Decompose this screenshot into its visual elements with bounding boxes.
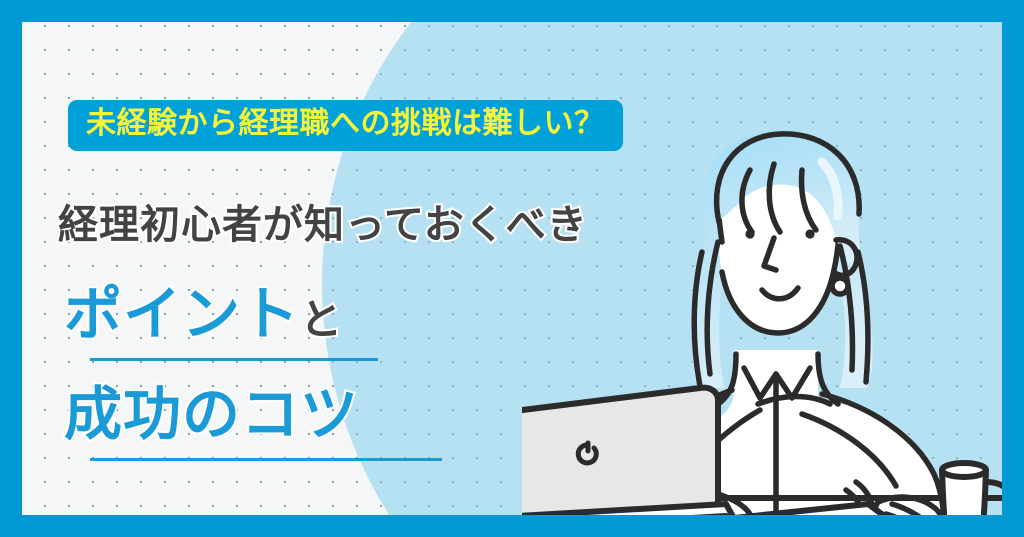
headline-accent-success: 成功のコツ [64,382,359,447]
banner-root: 未経験から経理職への挑戦は難しい？ 経理初心者が知っておくべき ポイントと 成功… [0,0,1024,537]
headline-line-3: 成功のコツ [64,367,359,451]
headline-accent-point: ポイント [64,282,300,347]
accent-underline-2 [90,458,442,461]
headline-line-1: 経理初心者が知っておくべき [58,192,588,250]
headline-plain-to: と [300,296,343,343]
headline-line-2: ポイントと [64,267,343,351]
inner-panel: 未経験から経理職への挑戦は難しい？ 経理初心者が知っておくべき ポイントと 成功… [22,22,1002,515]
accent-underline-1 [90,358,378,361]
illustration-woman-at-laptop [522,122,1002,515]
